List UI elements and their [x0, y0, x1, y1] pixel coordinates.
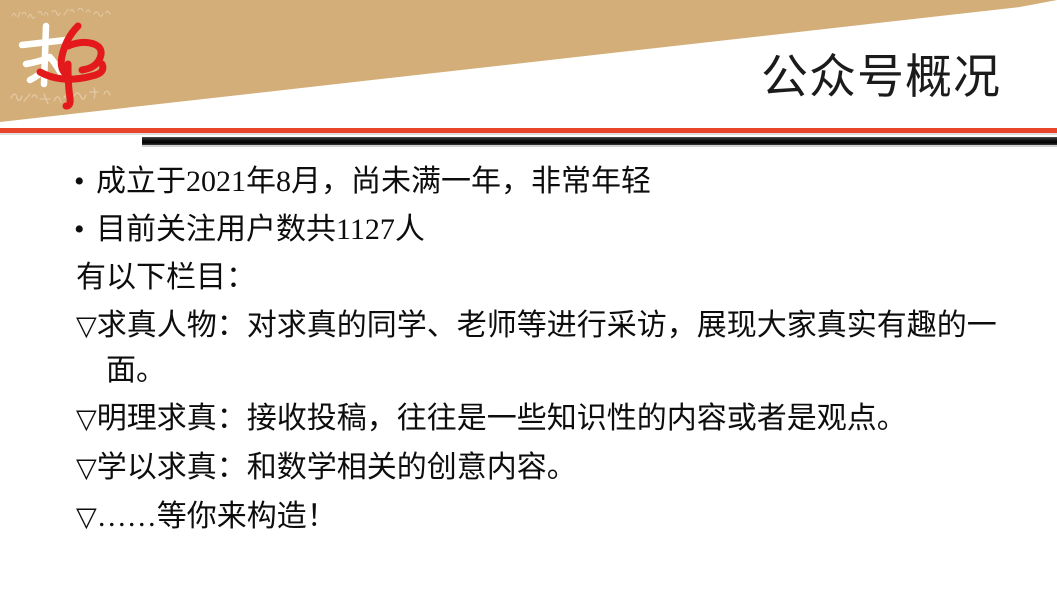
- column-item-text: 学以求真：和数学相关的创意内容。: [97, 451, 577, 484]
- bullet-item-1: •成立于2021年8月，尚未满一年，非常年轻: [74, 160, 1039, 204]
- triangle-marker: ▽: [76, 404, 97, 435]
- bullet-marker: •: [74, 160, 96, 204]
- bullet-marker: •: [74, 208, 96, 252]
- divider-dark: [142, 137, 1057, 145]
- column-item-1: ▽求真人物：对求真的同学、老师等进行采访，展现大家真实有趣的一面。: [74, 304, 1039, 393]
- column-item-2: ▽明理求真：接收投稿，往往是一些知识性的内容或者是观点。: [74, 397, 1039, 442]
- column-item-text: ……等你来构造！: [97, 500, 337, 533]
- divider-red-shadow: [0, 133, 1057, 135]
- column-item-3: ▽学以求真：和数学相关的创意内容。: [74, 446, 1039, 491]
- slide-body: •成立于2021年8月，尚未满一年，非常年轻 •目前关注用户数共1127人 有以…: [74, 160, 1039, 544]
- presentation-slide: 公众号概况 •成立于2021年8月，尚未满一年，非常年轻 •目前关注用户数共11…: [0, 0, 1057, 595]
- page-title: 公众号概况: [761, 52, 1001, 101]
- column-item-text: 求真人物：对求真的同学、老师等进行采访，展现大家真实有趣的一面。: [97, 309, 997, 387]
- column-item-4: ▽……等你来构造！: [74, 495, 1039, 540]
- section-intro: 有以下栏目：: [74, 256, 1039, 300]
- triangle-marker: ▽: [76, 311, 97, 342]
- divider-dark-shadow: [142, 145, 1057, 147]
- triangle-marker: ▽: [76, 502, 97, 533]
- bullet-item-2: •目前关注用户数共1127人: [74, 208, 1039, 252]
- column-item-text: 明理求真：接收投稿，往往是一些知识性的内容或者是观点。: [97, 402, 907, 435]
- bullet-text: 目前关注用户数共1127人: [96, 213, 425, 246]
- triangle-marker: ▽: [76, 453, 97, 484]
- bullet-text: 成立于2021年8月，尚未满一年，非常年轻: [96, 165, 651, 198]
